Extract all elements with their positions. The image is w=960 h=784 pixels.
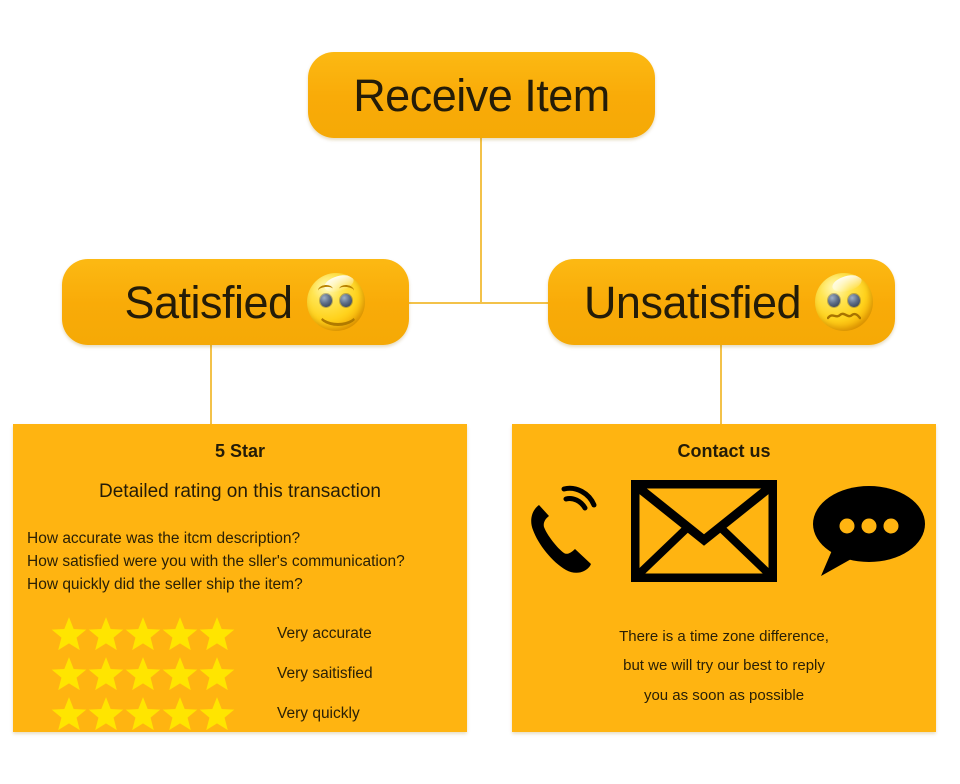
contact-note-line: but we will try our best to reply (512, 651, 936, 680)
star-icon[interactable] (162, 696, 198, 732)
chat-bubble-icon[interactable] (805, 482, 929, 580)
star-icon[interactable] (125, 696, 161, 732)
rating-question: How accurate was the itcm description? (27, 528, 467, 551)
contact-panel-title: Contact us (512, 441, 936, 462)
eye-right (848, 294, 860, 307)
connector-satisfied-to-rating (210, 345, 212, 425)
star-group[interactable] (51, 696, 233, 732)
star-icon[interactable] (199, 656, 235, 692)
star-icon[interactable] (125, 616, 161, 652)
node-unsatisfied[interactable]: Unsatisfied (548, 259, 895, 345)
flowchart-canvas: Receive Item Satisfied Unsatisfied (0, 0, 960, 784)
phone-icon[interactable] (519, 483, 603, 579)
star-icon[interactable] (88, 656, 124, 692)
sad-face-icon (815, 273, 873, 331)
node-receive-item-label: Receive Item (353, 73, 610, 118)
star-rating-row[interactable]: Very quickly (13, 694, 467, 734)
connector-horizontal-split (409, 302, 549, 304)
star-icon[interactable] (88, 616, 124, 652)
star-icon[interactable] (125, 656, 161, 692)
star-icon[interactable] (88, 696, 124, 732)
rating-panel-subtitle: Detailed rating on this transaction (13, 481, 467, 503)
contact-note-line: There is a time zone difference, (512, 622, 936, 651)
star-rating-rows: Very accurate Very saitisfied (13, 614, 467, 734)
panel-contact-us: Contact us (512, 424, 936, 732)
star-rating-label: Very saitisfied (277, 665, 373, 683)
smile-mouth (317, 297, 359, 326)
contact-icon-row (512, 480, 936, 582)
connector-root-to-split (480, 138, 482, 303)
star-icon[interactable] (51, 696, 87, 732)
rating-question-list: How accurate was the itcm description? H… (27, 528, 467, 596)
node-satisfied[interactable]: Satisfied (62, 259, 409, 345)
eye-left (828, 294, 840, 307)
node-receive-item[interactable]: Receive Item (308, 52, 655, 138)
contact-note-line: you as soon as possible (512, 681, 936, 710)
star-group[interactable] (51, 656, 233, 692)
rating-question: How quickly did the seller ship the item… (27, 574, 467, 597)
star-icon[interactable] (51, 616, 87, 652)
rating-question: How satisfied were you with the sller's … (27, 551, 467, 574)
connector-unsatisfied-to-contact (720, 345, 722, 425)
happy-face-icon (307, 273, 365, 331)
face-gloss (831, 273, 864, 295)
star-icon[interactable] (51, 656, 87, 692)
star-icon[interactable] (199, 616, 235, 652)
star-icon[interactable] (199, 696, 235, 732)
star-icon[interactable] (162, 616, 198, 652)
contact-note: There is a time zone difference, but we … (512, 622, 936, 710)
envelope-icon[interactable] (631, 480, 777, 582)
rating-panel-title: 5 Star (13, 441, 467, 462)
frown-mouth (827, 311, 861, 321)
star-group[interactable] (51, 616, 233, 652)
node-unsatisfied-label: Unsatisfied (584, 280, 801, 325)
panel-detailed-rating: 5 Star Detailed rating on this transacti… (13, 424, 467, 732)
star-rating-row[interactable]: Very saitisfied (13, 654, 467, 694)
star-icon[interactable] (162, 656, 198, 692)
star-rating-label: Very accurate (277, 625, 372, 643)
star-rating-row[interactable]: Very accurate (13, 614, 467, 654)
node-satisfied-label: Satisfied (124, 280, 292, 325)
star-rating-label: Very quickly (277, 705, 360, 723)
